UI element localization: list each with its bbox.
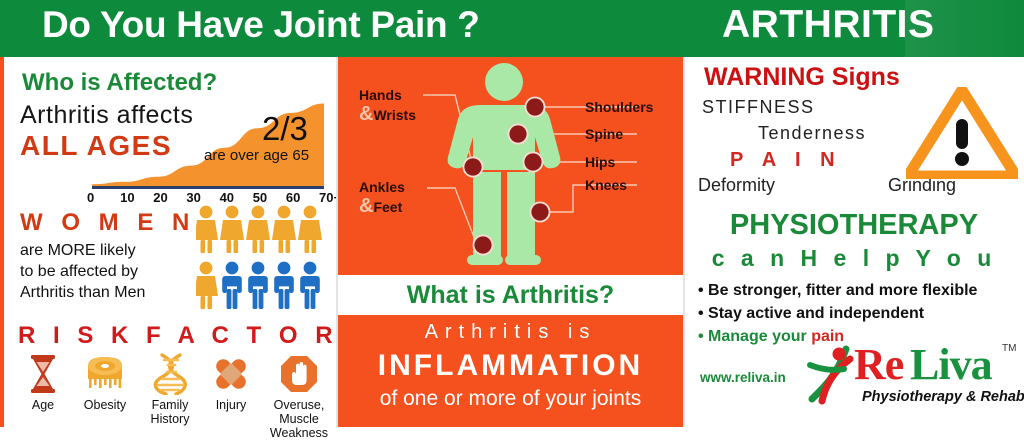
- warning-pain: P A I N: [730, 149, 842, 172]
- measuring-tape-icon: [72, 352, 138, 396]
- label-knees: Knees: [585, 177, 627, 193]
- ankles-line1: Ankles: [359, 179, 405, 195]
- ankles-amp: &: [359, 195, 373, 217]
- definition-line-1: Arthritis is: [337, 321, 684, 344]
- label-spine: Spine: [585, 126, 623, 142]
- bandage-icon: [202, 352, 260, 396]
- benefit-item-2: • Stay active and independent: [698, 302, 1024, 325]
- label-ankles-feet: Ankles &Feet: [359, 179, 405, 218]
- chart-tick-5: 50: [253, 190, 267, 205]
- divider-left-mid: [336, 57, 338, 427]
- risk-factor-family-history-label: Family History: [138, 398, 202, 426]
- risk-factors-row: Age: [10, 352, 340, 428]
- risk-factor-overuse-label: Overuse, Muscle Weakness: [256, 398, 342, 440]
- chart-tick-1: 10: [120, 190, 134, 205]
- chart-x-axis: [92, 186, 324, 189]
- dna-helix-icon: [138, 352, 202, 396]
- body-joint-diagram-panel: Hands &Wrists Ankles &Feet Shoulders Spi…: [337, 57, 684, 275]
- women-line-1: are MORE likely: [20, 240, 200, 261]
- benefit-1-text: Be stronger, fitter and more flexible: [708, 282, 977, 299]
- risk-factor-obesity-label: Obesity: [72, 398, 138, 412]
- benefit-3-text-green: Manage your: [708, 328, 811, 345]
- header-banner: Do You Have Joint Pain ? ARTHRITIS: [0, 0, 1024, 57]
- label-hips: Hips: [585, 154, 615, 170]
- definition-line-2: INFLAMMATION: [337, 349, 684, 383]
- joint-marker-5: [474, 236, 491, 253]
- label-hands-wrists: Hands &Wrists: [359, 87, 416, 126]
- joint-marker-1: [509, 125, 526, 142]
- benefit-2-text: Stay active and independent: [708, 305, 924, 322]
- stop-hand-icon: [256, 352, 342, 396]
- risk-factor-family-history: Family History: [138, 352, 202, 426]
- risk-factor-injury: Injury: [202, 352, 260, 412]
- hourglass-icon: [14, 352, 72, 396]
- family-label-line2: History: [151, 412, 190, 426]
- chart-tick-3: 30: [186, 190, 200, 205]
- warning-stiffness: STIFFNESS: [702, 97, 815, 118]
- physiotherapy-heading: PHYSIOTHERAPY: [684, 209, 1024, 242]
- infographic-poster: Do You Have Joint Pain ? ARTHRITIS Who i…: [0, 0, 1024, 427]
- warning-signs-title: WARNING Signs: [704, 63, 900, 92]
- can-help-you-heading: c a n H e l p Y o u: [684, 245, 1024, 272]
- joint-marker-4: [464, 158, 481, 175]
- header-shine: [905, 0, 1024, 57]
- hands-amp: &: [359, 103, 373, 125]
- logo-text-re: Re: [854, 339, 903, 390]
- chart-fraction-label: 2/3: [262, 110, 308, 148]
- definition-line-3: of one or more of your joints: [337, 387, 684, 411]
- left-column: Who is Affected? Arthritis affects ALL A…: [0, 57, 341, 427]
- what-is-arthritis-band: What is Arthritis?: [337, 275, 684, 315]
- header-topic: ARTHRITIS: [722, 3, 935, 47]
- risk-factors-title: R I S K F A C T O R S: [18, 322, 372, 350]
- right-column: WARNING Signs STIFFNESS Tenderness P A I…: [684, 57, 1024, 427]
- who-is-affected-title: Who is Affected?: [22, 69, 217, 97]
- women-line-2: to be affected by: [20, 261, 200, 282]
- chart-tick-4: 40: [220, 190, 234, 205]
- overuse-label-line2: Weakness: [270, 426, 328, 440]
- chart-tick-0: 0: [87, 190, 94, 205]
- logo-text-liva: Liva: [910, 339, 992, 390]
- logo-tagline: Physiotherapy & Rehab: [862, 389, 1024, 405]
- logo-trademark: TM: [1002, 343, 1016, 354]
- risk-factor-injury-label: Injury: [202, 398, 260, 412]
- risk-factor-age-label: Age: [14, 398, 72, 412]
- warning-tenderness: Tenderness: [758, 123, 866, 144]
- label-shoulders: Shoulders: [585, 99, 653, 115]
- overuse-label-line1: Overuse, Muscle: [274, 398, 325, 426]
- reliva-logo[interactable]: Re Liva TM Physiotherapy & Rehab: [806, 335, 1024, 421]
- joint-marker-2: [524, 153, 541, 170]
- benefit-item-1: • Be stronger, fitter and more flexible: [698, 279, 1024, 302]
- risk-factor-obesity: Obesity: [72, 352, 138, 412]
- women-line-3: Arthritis than Men: [20, 282, 200, 303]
- website-url[interactable]: www.reliva.in: [700, 370, 786, 385]
- divider-mid-right: [683, 57, 685, 427]
- running-figure-icon: [806, 343, 860, 405]
- chart-tick-6: 60: [286, 190, 300, 205]
- people-ratio-figures: [196, 205, 336, 315]
- hands-line1: Hands: [359, 87, 402, 103]
- warning-deformity: Deformity: [698, 175, 775, 196]
- family-label-line1: Family: [152, 398, 189, 412]
- women-body-text: are MORE likely to be affected by Arthri…: [20, 240, 200, 303]
- hands-line2: Wrists: [373, 107, 416, 123]
- warning-triangle-icon: [906, 87, 1018, 179]
- ankles-line2: Feet: [373, 199, 402, 215]
- joint-marker-0: [526, 98, 543, 115]
- women-heading: W O M E N: [20, 209, 195, 237]
- middle-column: Hands &Wrists Ankles &Feet Shoulders Spi…: [337, 57, 684, 427]
- definition-panel: Arthritis is INFLAMMATION of one or more…: [337, 315, 684, 427]
- what-is-arthritis-title: What is Arthritis?: [337, 281, 684, 310]
- risk-factor-age: Age: [14, 352, 72, 412]
- chart-caption-label: are over age 65: [204, 147, 309, 164]
- header-question: Do You Have Joint Pain ?: [42, 4, 480, 46]
- chart-tick-2: 20: [153, 190, 167, 205]
- joint-marker-3: [531, 203, 548, 220]
